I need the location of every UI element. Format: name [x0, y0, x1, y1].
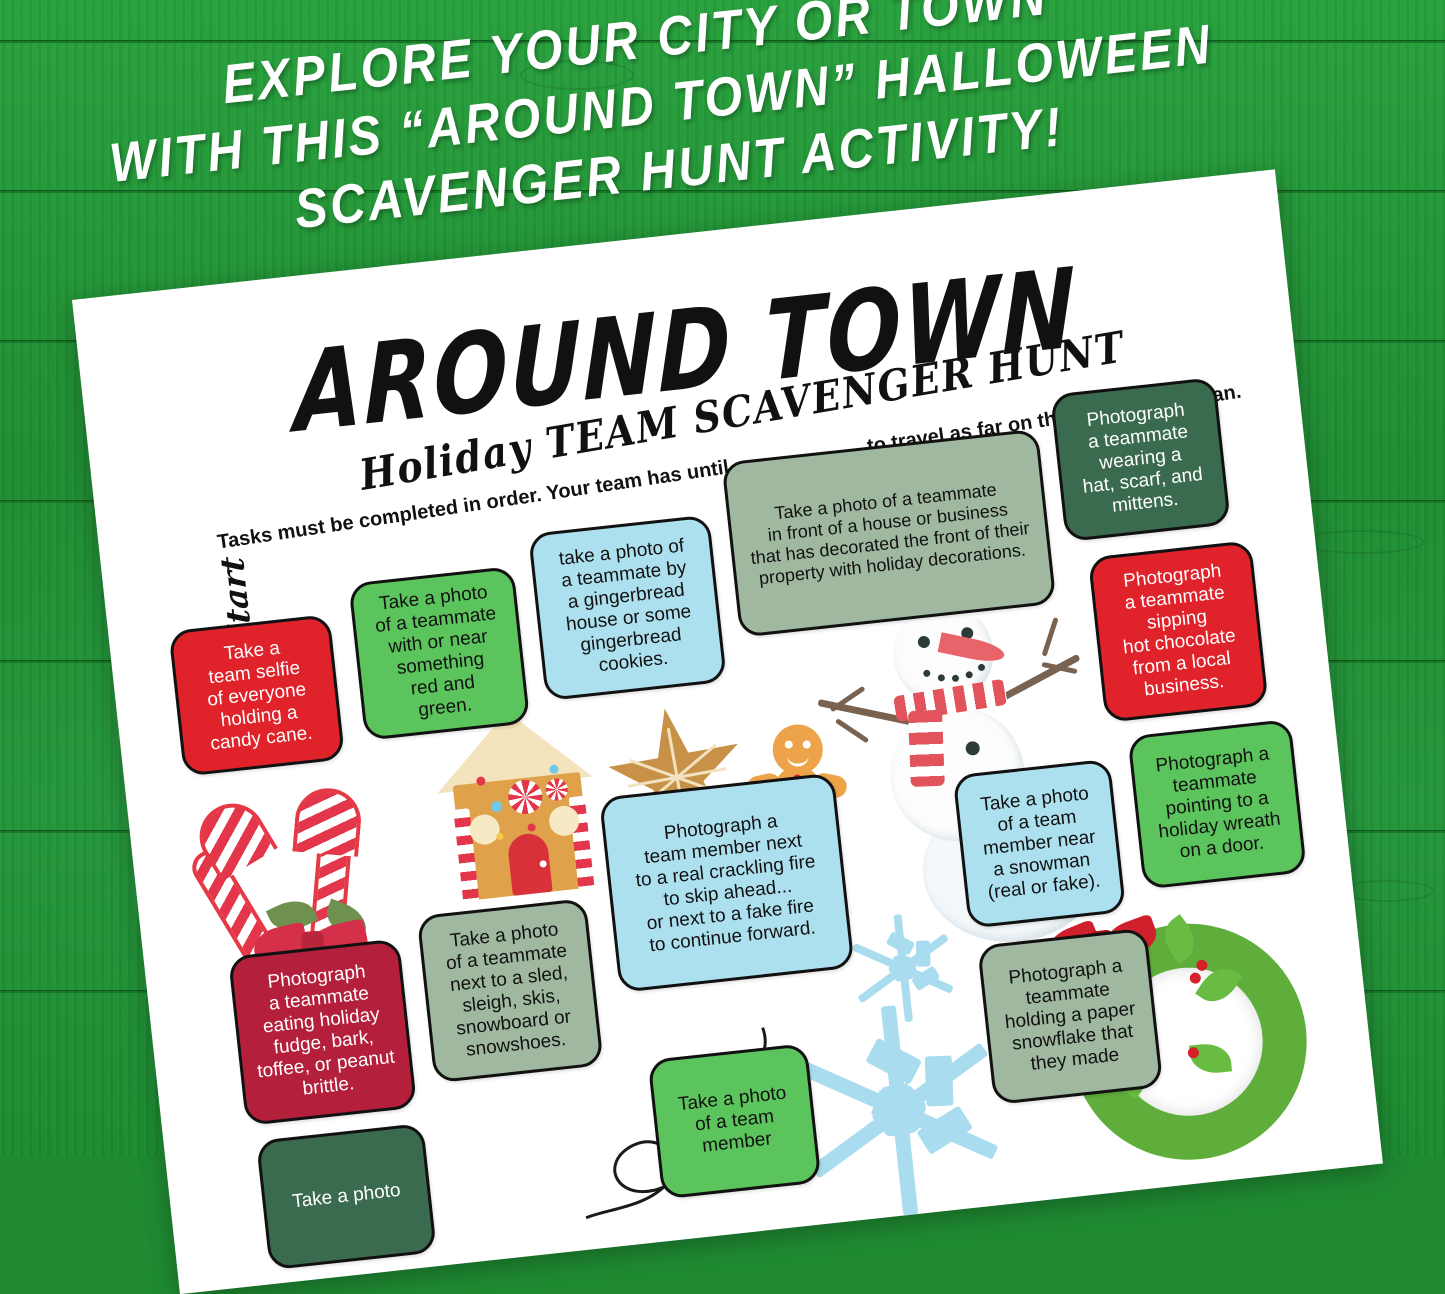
- task-card-7[interactable]: Photograph a teammate pointing to a holi…: [1127, 719, 1307, 890]
- task-card-8[interactable]: Take a photo of a team member near a sno…: [953, 759, 1127, 929]
- task-card-5[interactable]: Photograph a teammate wearing a hat, sca…: [1050, 377, 1231, 542]
- task-card-12[interactable]: Photograph a teammate holding a paper sn…: [977, 928, 1163, 1105]
- snowflake-small-decoration: [844, 909, 963, 1028]
- task-card-4[interactable]: Take a photo of a teammate in front of a…: [721, 428, 1056, 637]
- task-card-3[interactable]: take a photo of a teammate by a gingerbr…: [528, 514, 727, 701]
- gingerbread-house-decoration: [419, 698, 622, 936]
- scavenger-hunt-sheet: AROUND TOWN Holiday TEAM SCAVENGER HUNT …: [72, 169, 1383, 1294]
- task-card-9[interactable]: Photograph a team member next to a real …: [599, 773, 855, 993]
- task-card-10[interactable]: Photograph a teammate eating holiday fud…: [228, 938, 417, 1126]
- task-card-11[interactable]: Take a photo of a teammate next to a sle…: [417, 898, 604, 1083]
- task-card-1[interactable]: Take a team selfie of everyone holding a…: [168, 614, 345, 777]
- task-card-14[interactable]: Take a photo: [256, 1123, 437, 1270]
- task-card-13[interactable]: Take a photo of a team member: [647, 1043, 821, 1199]
- task-card-2[interactable]: Take a photo of a teammate with or near …: [348, 566, 530, 741]
- snowflake-large-decoration: [784, 995, 1015, 1226]
- task-card-6[interactable]: Photograph a teammate sipping hot chocol…: [1088, 540, 1269, 723]
